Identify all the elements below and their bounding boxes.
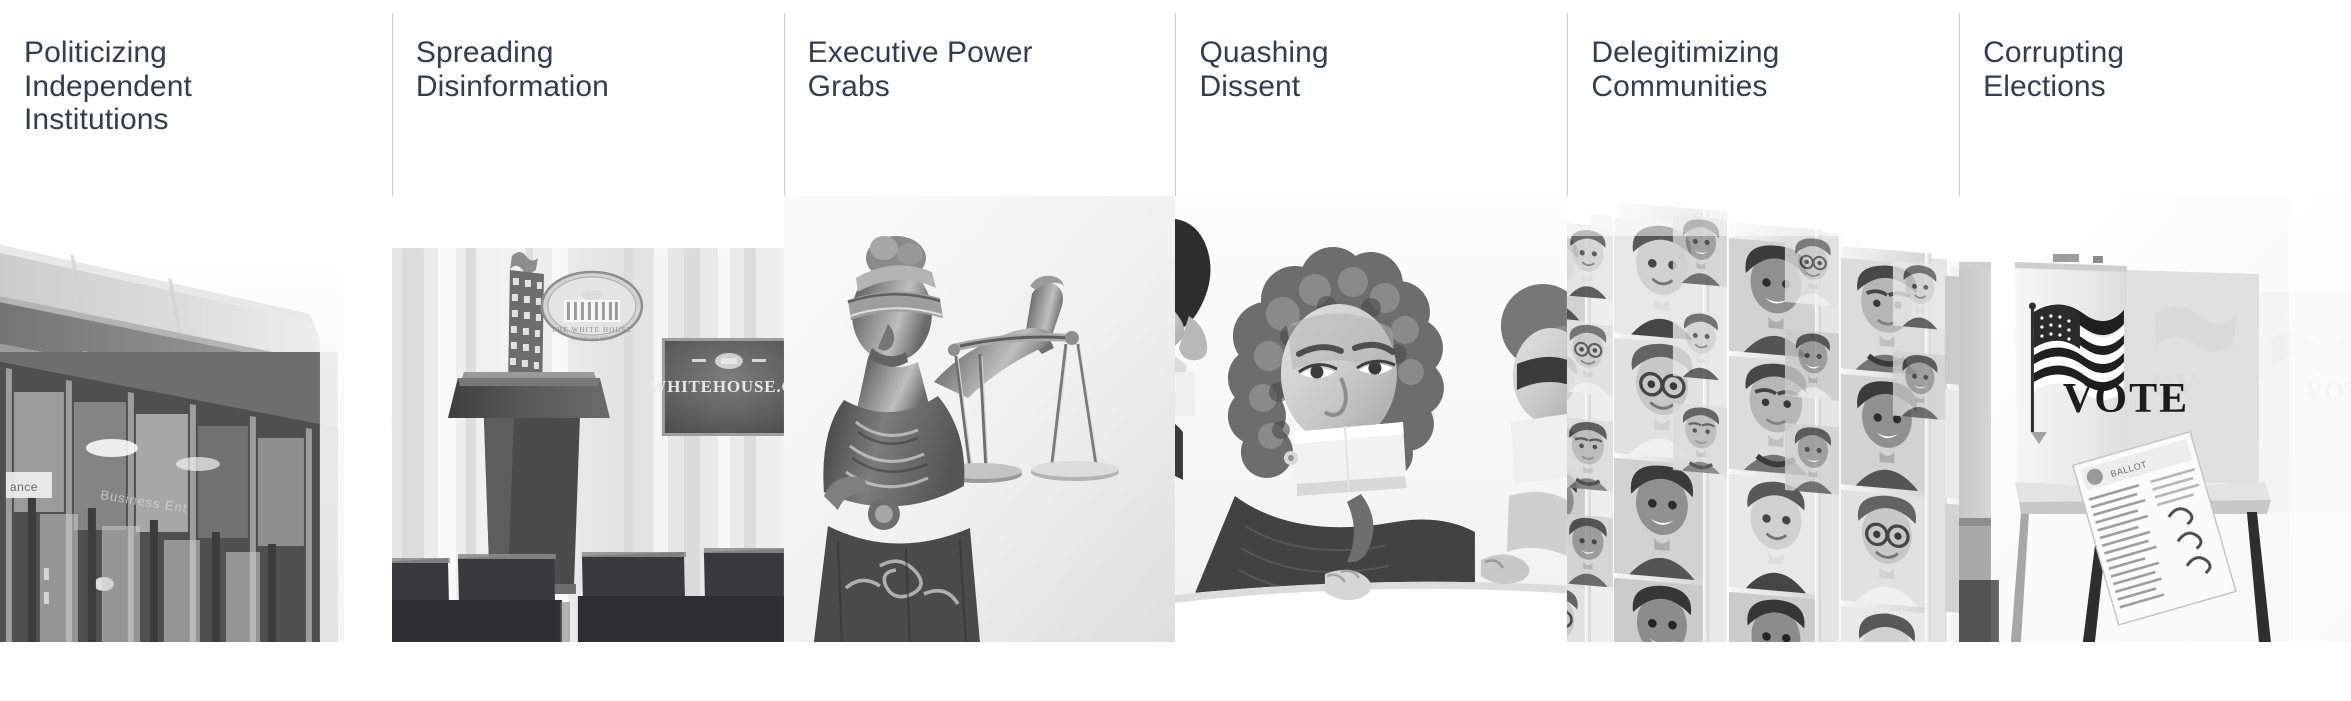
card-title: Spreading Disinformation [392,0,784,103]
lady-justice-statue-photo [784,196,1176,642]
card-quashing-dissent[interactable]: Quashing Dissent [1175,0,1567,701]
community-faces-mosaic-photo [1567,196,1959,642]
card-spreading-disinformation[interactable]: Spreading Disinformation [392,0,784,701]
card-title: Delegitimizing Communities [1567,0,1959,103]
card-corrupting-elections[interactable]: Corrupting Elections [1959,0,2351,701]
svg-text:VOTE: VOTE [2063,376,2189,422]
card-title: Politicizing Independent Institutions [0,0,392,137]
card-title: Quashing Dissent [1175,0,1567,103]
card-title: Executive Power Grabs [784,0,1176,103]
fbi-headquarters-photo: J. Edgar Hoover FBI Building J. Edgar Ho… [0,196,392,642]
silenced-protesters-photo [1175,196,1567,642]
card-title: Corrupting Elections [1959,0,2351,103]
voting-booth-photo: VOTE OV [1959,196,2351,642]
white-house-briefing-room-photo: THE WHITE HOUSE WASHINGTON WHITEHO [392,196,784,642]
svg-text:WASHINGTON: WASHINGTON [570,337,613,342]
category-card-row: Politicizing Independent Institutions [0,0,2351,701]
card-politicizing-independent-institutions[interactable]: Politicizing Independent Institutions [0,0,392,701]
svg-text:THE WHITE HOUSE: THE WHITE HOUSE [551,326,632,334]
svg-text:WHITEHOUSE.GOV: WHITEHOUSE.GOV [649,377,784,396]
card-delegitimizing-communities[interactable]: Delegitimizing Communities [1567,0,1959,701]
svg-text:ance: ance [10,480,38,494]
card-executive-power-grabs[interactable]: Executive Power Grabs [784,0,1176,701]
